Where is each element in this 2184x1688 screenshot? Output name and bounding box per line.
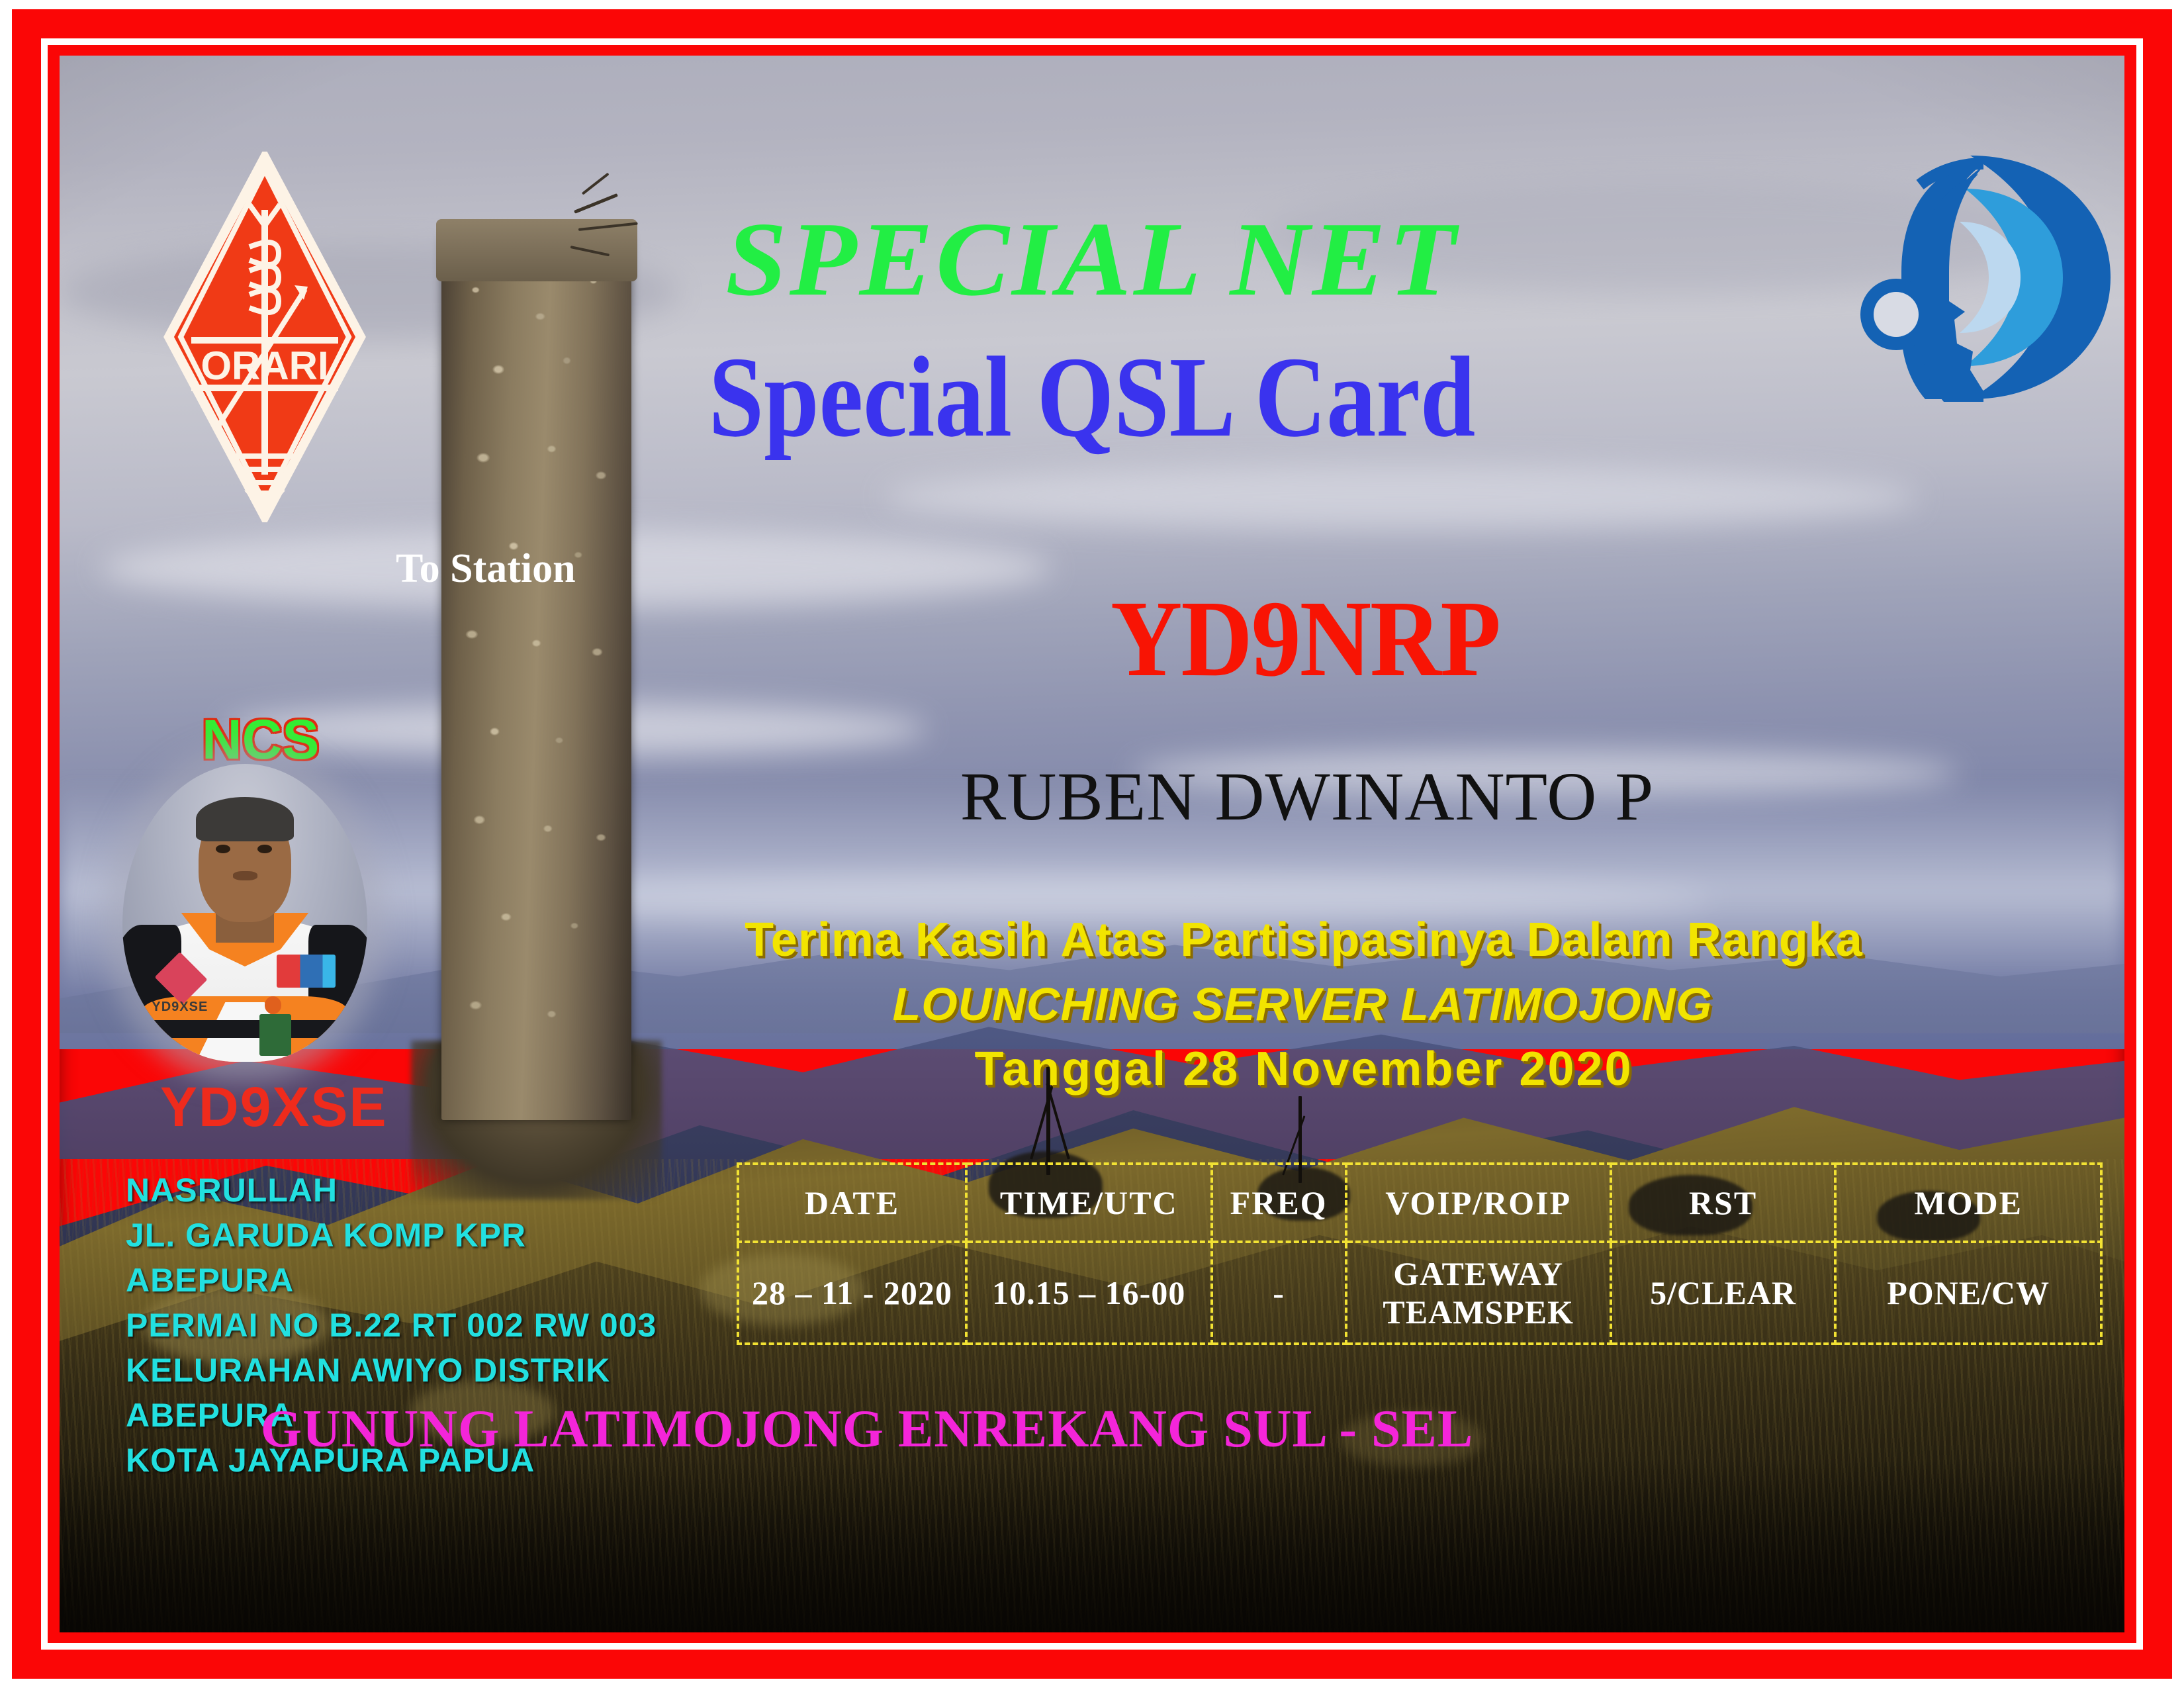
address-line: JL. GARUDA KOMP KPR [126,1213,657,1258]
table-row: 28 – 11 - 2020 10.15 – 16-00 - GATEWAY T… [738,1242,2101,1344]
cell-voip-line2: TEAMSPEK [1383,1293,1574,1331]
address-line: PERMAI NO B.22 RT 002 RW 003 [126,1303,657,1348]
address-line: NASRULLAH [126,1168,657,1213]
table-header-row: DATE TIME/UTC FREQ VOIP/ROIP RST MODE [738,1164,2101,1242]
col-header-voip-roip: VOIP/ROIP [1346,1164,1611,1242]
cell-mode: PONE/CW [1835,1242,2101,1344]
cell-time: 10.15 – 16-00 [966,1242,1212,1344]
card-photo-area: ORARI [60,56,2124,1632]
event-title: LOUNCHING SERVER LATIMOJONG [270,978,2124,1031]
address-line: ABEPURA [126,1258,657,1303]
col-header-rst: RST [1611,1164,1836,1242]
qso-log-table: DATE TIME/UTC FREQ VOIP/ROIP RST MODE 28… [737,1162,2103,1345]
col-header-date: DATE [738,1164,966,1242]
thanks-line: Terima Kasih Atas Partisipasinya Dalam R… [271,913,2124,967]
cell-date: 28 – 11 - 2020 [738,1242,966,1344]
event-date: Tanggal 28 November 2020 [271,1042,2124,1096]
footer-motto: "AMATIR RADIO ADALAH PROGRESIVE" [140,1627,1150,1632]
cell-voip-line1: GATEWAY [1393,1255,1563,1292]
cell-voip-roip: GATEWAY TEAMSPEK [1346,1242,1611,1344]
col-header-freq: FREQ [1212,1164,1346,1242]
ncs-badge: NCS [202,708,319,772]
address-line: KELURAHAN AWIYO DISTRIK [126,1348,657,1393]
col-header-mode: MODE [1835,1164,2101,1242]
qsl-card: ORARI [0,0,2184,1688]
station-callsign: YD9NRP [273,576,2124,701]
page-subtitle-qsl-card: Special QSL Card [60,331,2124,463]
uniform-callsign-text: YD9XSE [152,1000,208,1015]
col-header-time: TIME/UTC [966,1164,1212,1242]
cell-rst: 5/CLEAR [1611,1242,1836,1344]
footer-web-address: Address : amatir.latimojong.com [1317,1627,2023,1632]
cell-freq: - [1212,1242,1346,1344]
page-title-special-net: SPECIAL NET [60,198,2124,320]
location-line: GUNUNG LATIMOJONG ENREKANG SUL - SEL [60,1399,1899,1460]
operator-name: RUBEN DWINANTO P [275,757,2124,836]
